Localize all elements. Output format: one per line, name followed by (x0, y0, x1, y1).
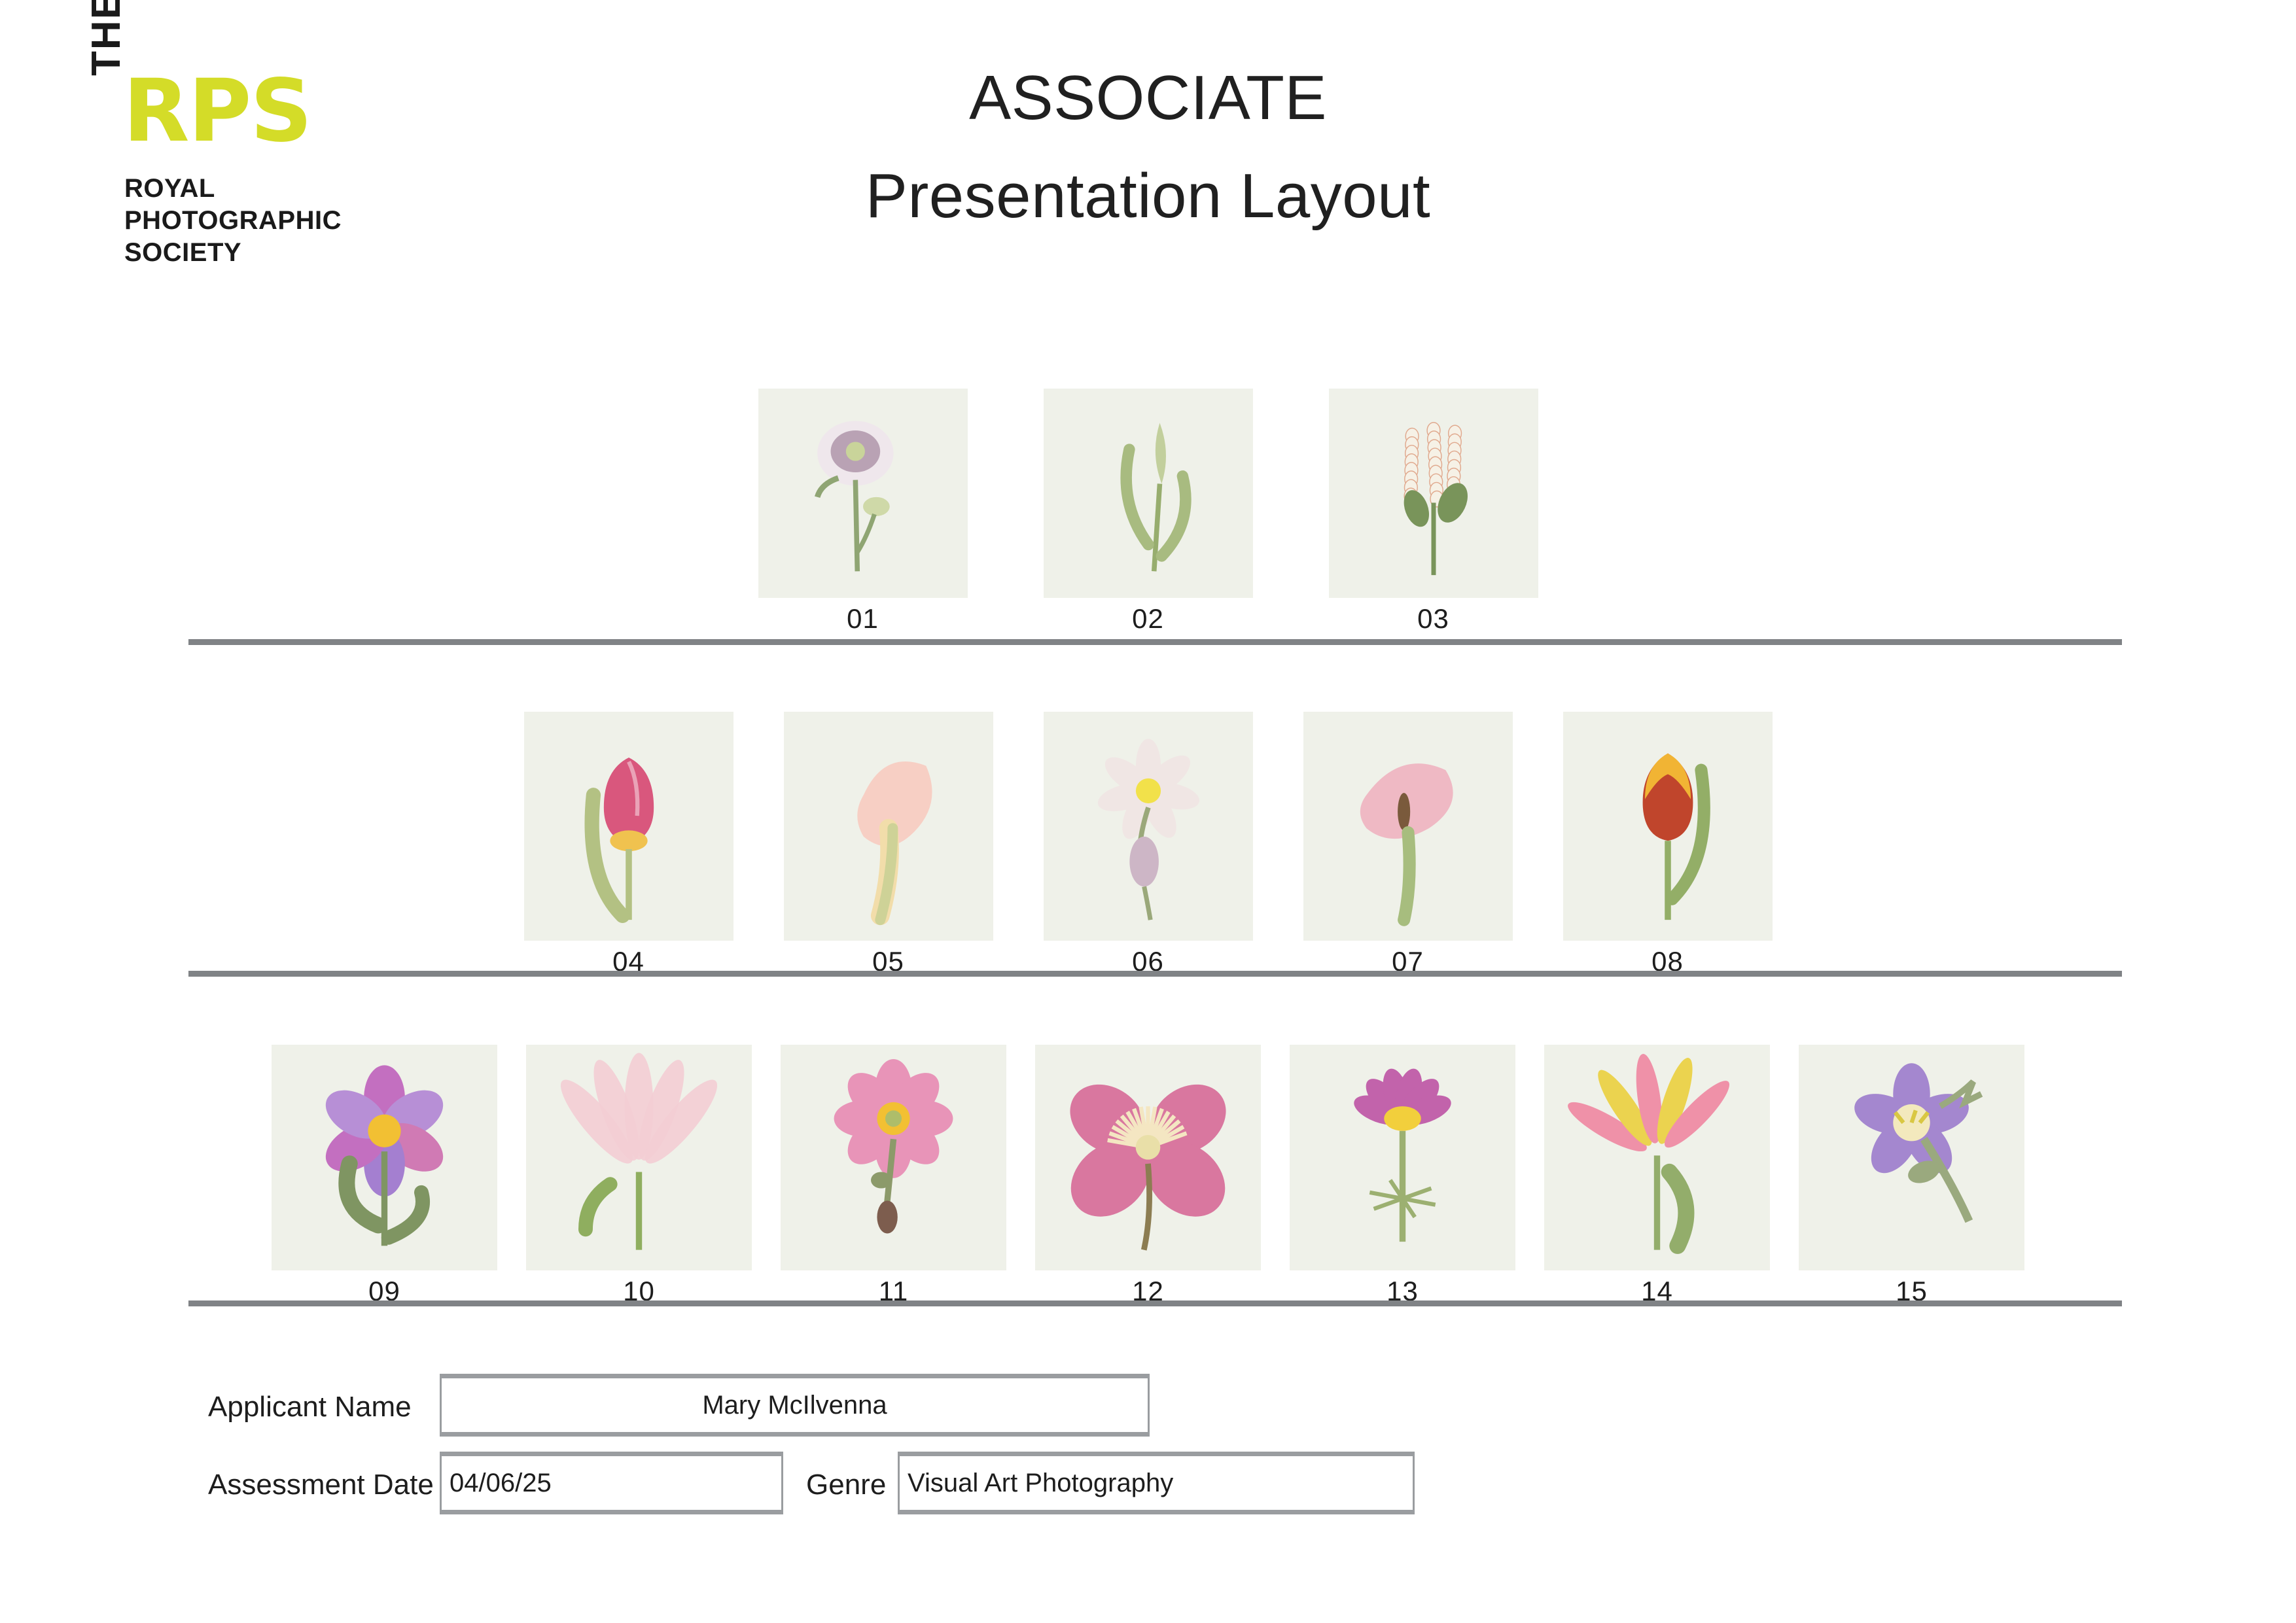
row-divider-2 (188, 971, 2122, 977)
flower-photo-15 (1799, 1045, 2024, 1270)
flower-photo-05 (784, 712, 993, 941)
image-tile[interactable]: 06 (1044, 712, 1253, 977)
logo-society-line3: SOCIETY (124, 237, 342, 269)
image-row-3: 09 10 11 12 13 14 15 (0, 1045, 2296, 1307)
genre-field[interactable]: Visual Art Photography (898, 1452, 1415, 1514)
image-tile[interactable]: 13 (1290, 1045, 1515, 1307)
flower-photo-04 (524, 712, 733, 941)
flower-photo-02 (1044, 389, 1253, 598)
flower-photo-09 (272, 1045, 497, 1270)
image-row-1: 01 02 03 (0, 389, 2296, 635)
flower-photo-06 (1044, 712, 1253, 941)
flower-photo-07 (1303, 712, 1513, 941)
image-tile[interactable]: 11 (781, 1045, 1006, 1307)
image-tile[interactable]: 10 (526, 1045, 752, 1307)
flower-photo-13 (1290, 1045, 1515, 1270)
image-tile[interactable]: 04 (524, 712, 733, 977)
flower-photo-01 (758, 389, 968, 598)
image-tile[interactable]: 03 (1329, 389, 1538, 635)
flower-photo-08 (1563, 712, 1773, 941)
image-tile[interactable]: 05 (784, 712, 993, 977)
image-tile[interactable]: 12 (1035, 1045, 1261, 1307)
image-tile[interactable]: 08 (1563, 712, 1773, 977)
image-tile[interactable]: 07 (1303, 712, 1513, 977)
image-row-2: 04 05 06 07 08 (0, 712, 2296, 977)
image-caption: 01 (758, 603, 968, 635)
row-divider-1 (188, 639, 2122, 645)
image-tile[interactable]: 15 (1799, 1045, 2024, 1307)
flower-photo-12 (1035, 1045, 1261, 1270)
genre-label: Genre (806, 1469, 886, 1501)
assessment-date-value: 04/06/25 (442, 1469, 552, 1498)
flower-photo-11 (781, 1045, 1006, 1270)
flower-photo-14 (1544, 1045, 1770, 1270)
genre-value: Visual Art Photography (900, 1469, 1173, 1498)
image-tile[interactable]: 14 (1544, 1045, 1770, 1307)
image-caption: 03 (1329, 603, 1538, 635)
applicant-name-field[interactable]: Mary McIlvenna (440, 1374, 1150, 1437)
page-title: ASSOCIATE (0, 62, 2296, 134)
flower-photo-03 (1329, 389, 1538, 598)
assessment-date-label: Assessment Date (208, 1469, 434, 1501)
image-tile[interactable]: 02 (1044, 389, 1253, 635)
page-subtitle: Presentation Layout (0, 160, 2296, 232)
flower-photo-10 (526, 1045, 752, 1270)
assessment-date-field[interactable]: 04/06/25 (440, 1452, 783, 1514)
row-divider-3 (188, 1300, 2122, 1306)
image-caption: 02 (1044, 603, 1253, 635)
image-tile[interactable]: 01 (758, 389, 968, 635)
applicant-name-label: Applicant Name (208, 1391, 412, 1423)
image-tile[interactable]: 09 (272, 1045, 497, 1307)
applicant-name-value: Mary McIlvenna (702, 1391, 887, 1420)
